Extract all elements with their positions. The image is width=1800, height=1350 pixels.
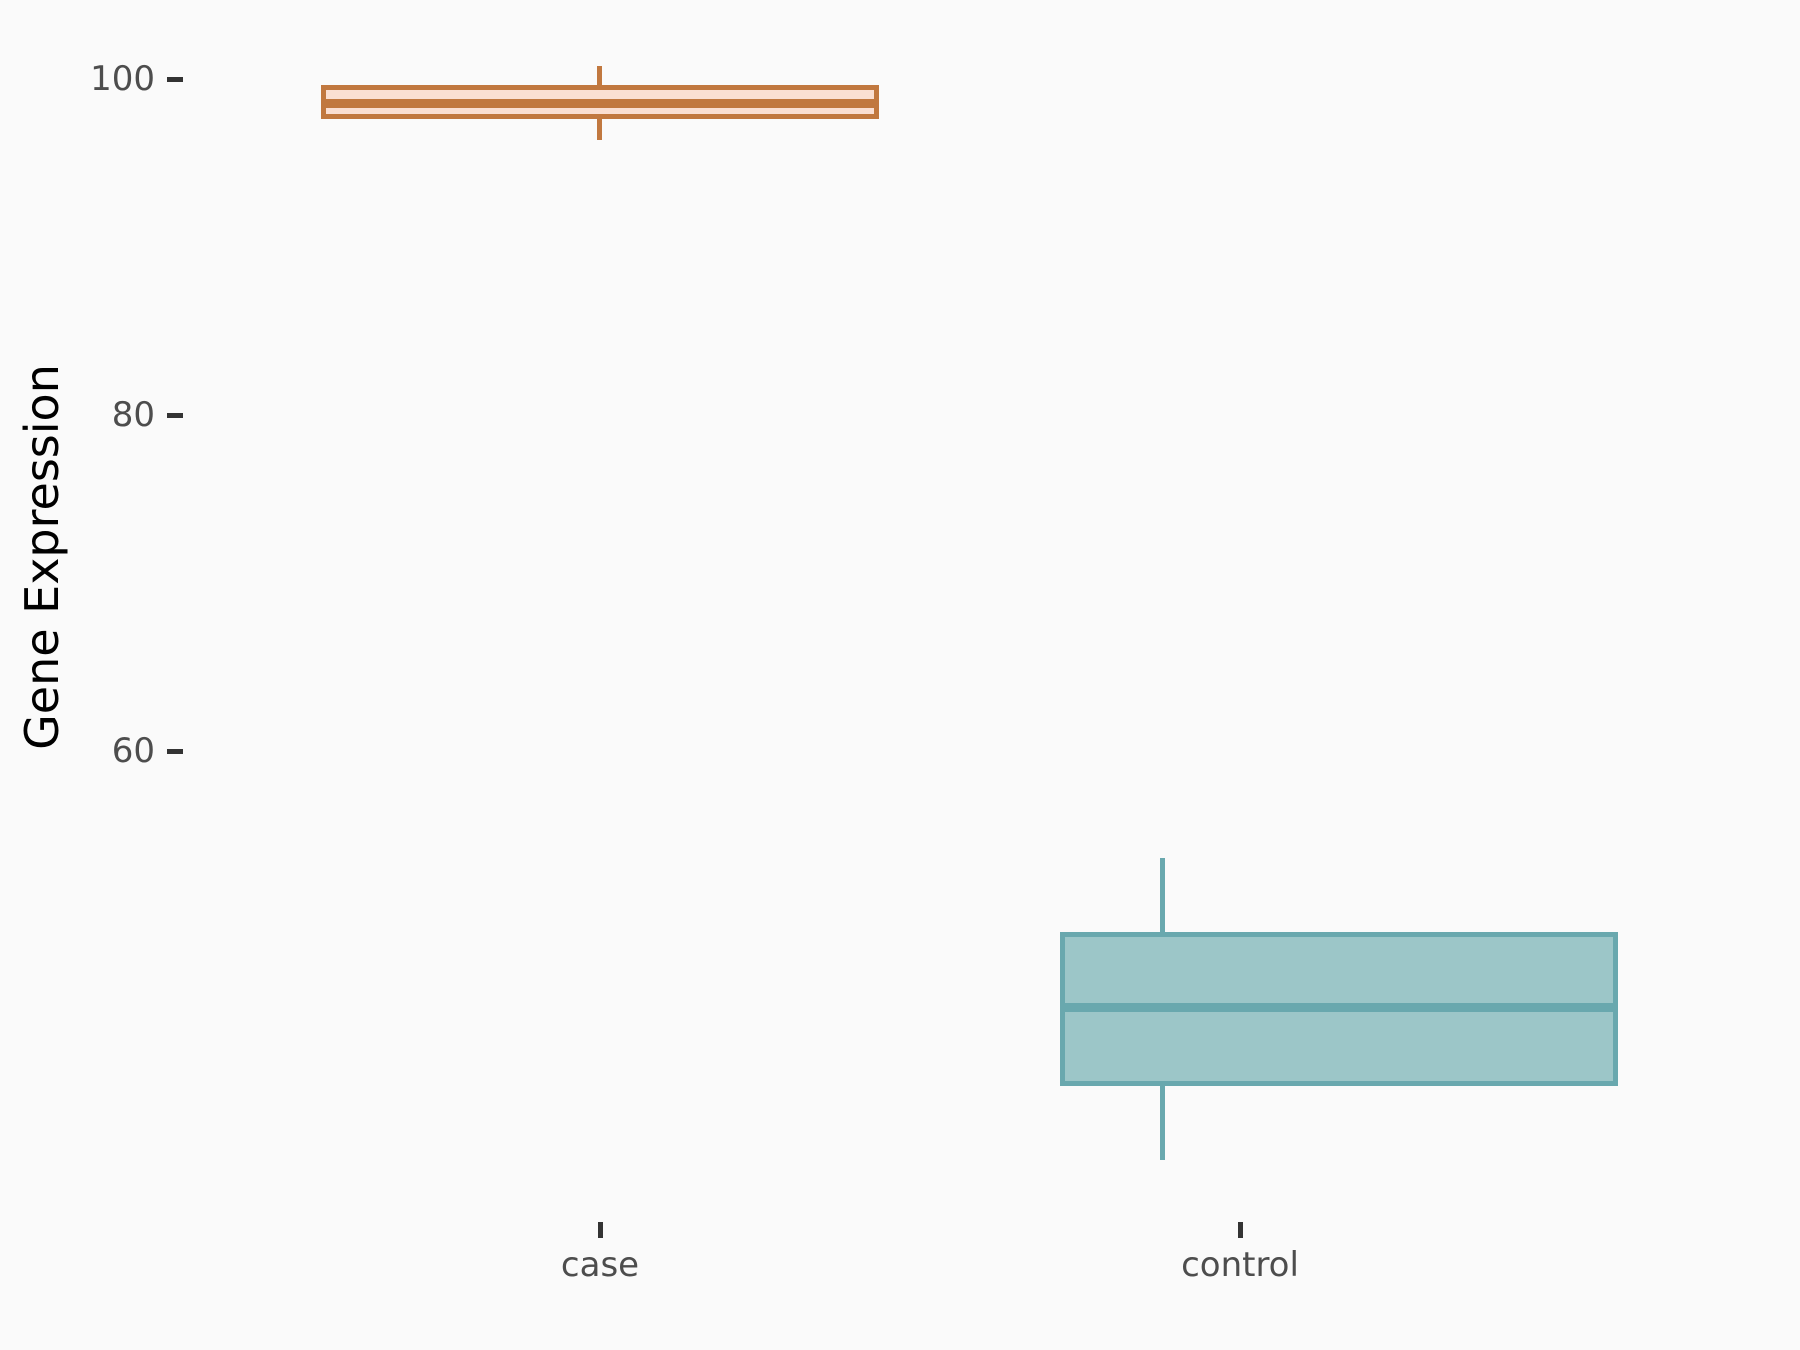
median-line-case: [321, 99, 879, 108]
y-axis-title: Gene Expression: [15, 247, 69, 867]
y-tick-label-100: 100: [40, 62, 155, 96]
boxplot-figure: Gene Expression 100 80 60 case control: [0, 0, 1800, 1350]
median-line-control: [1060, 1003, 1618, 1012]
whisker-upper-control: [1160, 858, 1165, 938]
y-tick-mark-60: [167, 749, 183, 754]
x-tick-mark-control: [1238, 1222, 1243, 1238]
x-tick-label-control: control: [1181, 1245, 1299, 1285]
x-tick-label-case: case: [561, 1245, 639, 1285]
whisker-lower-control: [1160, 1080, 1165, 1160]
y-tick-label-60: 60: [40, 734, 155, 768]
x-tick-mark-case: [598, 1222, 603, 1238]
y-tick-mark-100: [167, 77, 183, 82]
y-tick-label-80: 80: [40, 398, 155, 432]
y-tick-mark-80: [167, 413, 183, 418]
